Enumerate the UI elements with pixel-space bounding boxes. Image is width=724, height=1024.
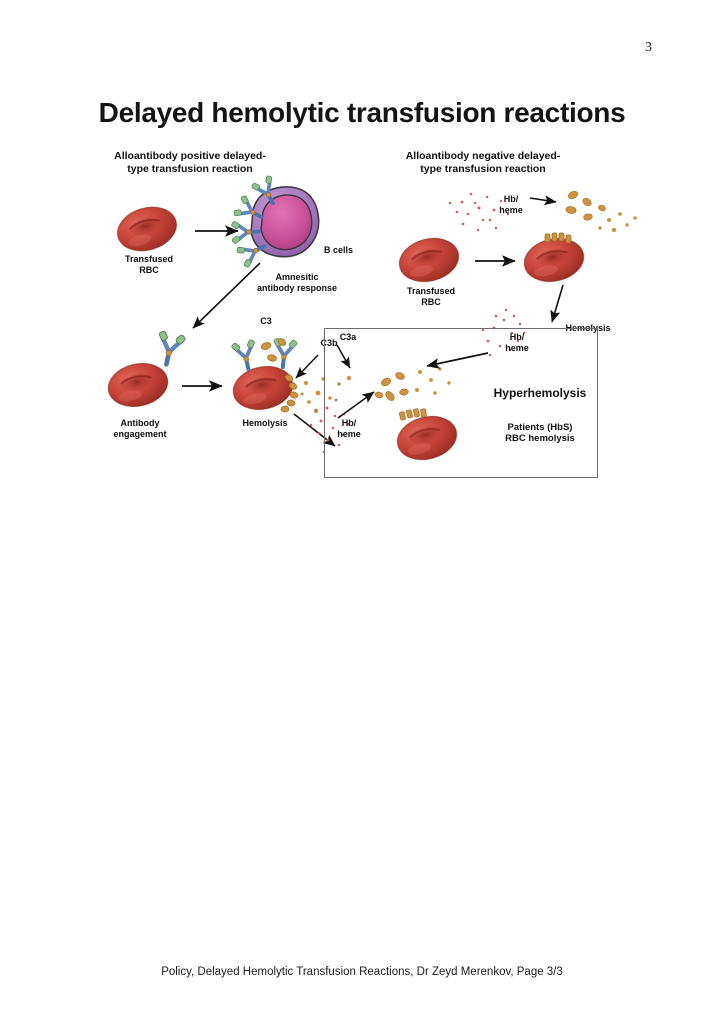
arrow-hemolysis-right	[552, 285, 563, 322]
page-title: Delayed hemolytic transfusion reactions	[0, 97, 724, 129]
label-hemolysis-left: Hemolysis	[222, 418, 308, 429]
footer-note: Policy, Delayed Hemolytic Transfusion Re…	[0, 966, 724, 978]
label-b-cells: B cells	[324, 245, 384, 256]
document-page: 3 Delayed hemolytic transfusion reaction…	[0, 0, 724, 1024]
label-amnesitic-antibody-response: Amnesitic antibody response	[232, 272, 362, 294]
right-panel-heading: Alloantibody negative delayed- type tran…	[378, 150, 588, 176]
complement-particles-right	[565, 190, 606, 221]
antibody-bound-1	[230, 338, 260, 371]
label-c3a: C3a	[330, 332, 366, 343]
arrow-c3b-pointer	[296, 355, 318, 378]
label-hyperhemolysis: Hyperhemolysis	[480, 388, 600, 399]
label-patients-hbs-rbc-hemolysis: Patients (HbS) RBC hemolysis	[480, 422, 600, 444]
label-antibody-engagement: Antibody engagement	[96, 418, 184, 440]
figure-delayed-hemolytic-transfusion-reactions: Alloantibody positive delayed- type tran…	[90, 150, 630, 490]
label-c3: C3	[248, 316, 284, 327]
hyperhemolysis-box	[324, 328, 598, 478]
page-number: 3	[645, 40, 652, 56]
complement-dots-right	[598, 212, 637, 232]
label-transfused-rbc-left: Transfused RBC	[106, 254, 192, 276]
rbc-antibody-engagement	[104, 358, 171, 412]
label-hb-heme-box-right: Hb/ heme	[494, 332, 540, 354]
antibody-free	[153, 330, 187, 368]
rbc-transfused-left	[112, 201, 181, 258]
label-hb-heme-top: Hb/ heme	[488, 194, 534, 216]
left-panel-heading: Alloantibody positive delayed- type tran…	[90, 150, 290, 176]
rbc-transfused-right	[395, 232, 463, 287]
label-transfused-rbc-right: Transfused RBC	[388, 286, 474, 308]
label-hb-heme-box-left: Hb/ heme	[326, 418, 372, 440]
